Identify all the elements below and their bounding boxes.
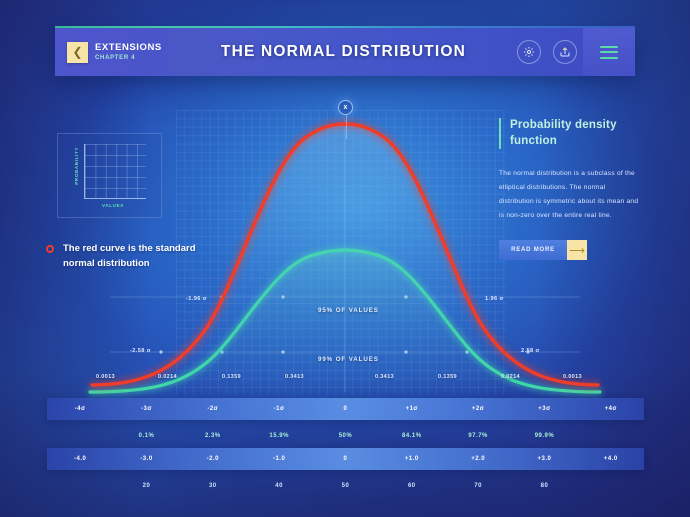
header-chapter-label: CHAPTER 4 <box>95 55 162 62</box>
info-panel: Probability density function The normal … <box>499 118 639 260</box>
sigma-label-neg258: -2.58 σ <box>130 348 151 354</box>
cumulative-percent-row: 0.1% 2.3% 15.9% 50% 84.1% 97.7% 99.9% <box>47 424 644 448</box>
sigma-cell: -4σ <box>47 406 113 412</box>
area-value: 0.3413 <box>285 374 304 380</box>
t-score-cell: 50 <box>312 483 378 489</box>
sigma-cell: +1σ <box>379 406 445 412</box>
t-score-cell: 70 <box>445 483 511 489</box>
area-value: 0.1359 <box>438 374 457 380</box>
upload-icon[interactable] <box>553 40 577 64</box>
sigma-cell: -2σ <box>180 406 246 412</box>
z-cell: -4.0 <box>47 456 113 462</box>
read-more-button[interactable]: READ MORE ⟶ <box>499 240 587 260</box>
peak-marker-icon[interactable]: x <box>338 100 353 115</box>
band-label-99: 99% OF VALUES <box>318 356 379 363</box>
arrow-left-icon[interactable]: ❮ <box>67 42 88 63</box>
legend-marker-icon <box>46 245 54 253</box>
legend-label: The red curve is the standard normal dis… <box>63 242 221 271</box>
z-cell: +3.0 <box>511 456 577 462</box>
percent-cell: 97.7% <box>445 433 511 439</box>
panel-body-text: The normal distribution is a subclass of… <box>499 167 639 222</box>
t-score-cell: 80 <box>511 483 577 489</box>
area-value: 0.0214 <box>501 374 520 380</box>
area-value: 0.0214 <box>158 374 177 380</box>
sigma-label-pos258: 2.58 σ <box>521 348 540 354</box>
sigma-cell: +3σ <box>511 406 577 412</box>
header-section-group: EXTENSIONS CHAPTER 4 <box>95 43 162 62</box>
area-value: 0.3413 <box>375 374 394 380</box>
sigma-label-neg196: -1.96 σ <box>186 296 207 302</box>
percent-cell: 2.3% <box>180 433 246 439</box>
z-cell: +4.0 <box>578 456 644 462</box>
percent-cell: 50% <box>312 433 378 439</box>
z-cell: 0 <box>312 456 378 462</box>
area-value: 0.0013 <box>96 374 115 380</box>
z-cell: -3.0 <box>113 456 179 462</box>
percent-cell: 15.9% <box>246 433 312 439</box>
mini-chart-ylabel: PROBABILITY <box>74 147 79 185</box>
percent-cell: 0.1% <box>113 433 179 439</box>
mini-chart-thumbnail[interactable]: PROBABILITY VALUES <box>57 133 162 218</box>
area-value: 0.0013 <box>563 374 582 380</box>
sigma-cell: -3σ <box>113 406 179 412</box>
band-label-95: 95% OF VALUES <box>318 307 379 314</box>
app-header: ❮ EXTENSIONS CHAPTER 4 THE NORMAL DISTRI… <box>55 28 635 76</box>
app-canvas: ❮ EXTENSIONS CHAPTER 4 THE NORMAL DISTRI… <box>0 0 690 517</box>
sigma-axis-row: -4σ -3σ -2σ -1σ 0 +1σ +2σ +3σ +4σ <box>47 398 644 420</box>
sigma-cell: +2σ <box>445 406 511 412</box>
sigma-cell: 0 <box>312 406 378 412</box>
axis-tables: -4σ -3σ -2σ -1σ 0 +1σ +2σ +3σ +4σ 0.1% 2… <box>47 398 644 498</box>
percent-cell: 99.9% <box>511 433 577 439</box>
z-cell: -2.0 <box>180 456 246 462</box>
z-axis-row: -4.0 -3.0 -2.0 -1.0 0 +1.0 +2.0 +3.0 +4.… <box>47 448 644 470</box>
legend: The red curve is the standard normal dis… <box>46 242 221 271</box>
sigma-cell: -1σ <box>246 406 312 412</box>
z-cell: -1.0 <box>246 456 312 462</box>
page-title: THE NORMAL DISTRIBUTION <box>170 28 517 76</box>
t-score-cell: 30 <box>180 483 246 489</box>
percent-cell: 84.1% <box>379 433 445 439</box>
gear-icon[interactable] <box>517 40 541 64</box>
mini-chart-grid <box>84 144 146 199</box>
panel-title: Probability density function <box>499 118 639 149</box>
z-cell: +1.0 <box>379 456 445 462</box>
hamburger-icon[interactable] <box>583 28 635 76</box>
header-back-group[interactable]: ❮ EXTENSIONS CHAPTER 4 <box>55 28 170 76</box>
mini-chart-xlabel: VALUES <box>102 203 124 208</box>
sigma-label-pos196: 1.96 σ <box>485 296 504 302</box>
z-cell: +2.0 <box>445 456 511 462</box>
t-score-cell: 60 <box>379 483 445 489</box>
header-section-label: EXTENSIONS <box>95 43 162 54</box>
sigma-cell: +4σ <box>578 406 644 412</box>
t-score-row: 20 30 40 50 60 70 80 <box>47 474 644 498</box>
arrow-right-icon[interactable]: ⟶ <box>567 240 587 260</box>
t-score-cell: 40 <box>246 483 312 489</box>
header-actions <box>517 28 583 76</box>
t-score-cell: 20 <box>113 483 179 489</box>
area-value: 0.1359 <box>222 374 241 380</box>
read-more-label: READ MORE <box>499 240 567 260</box>
